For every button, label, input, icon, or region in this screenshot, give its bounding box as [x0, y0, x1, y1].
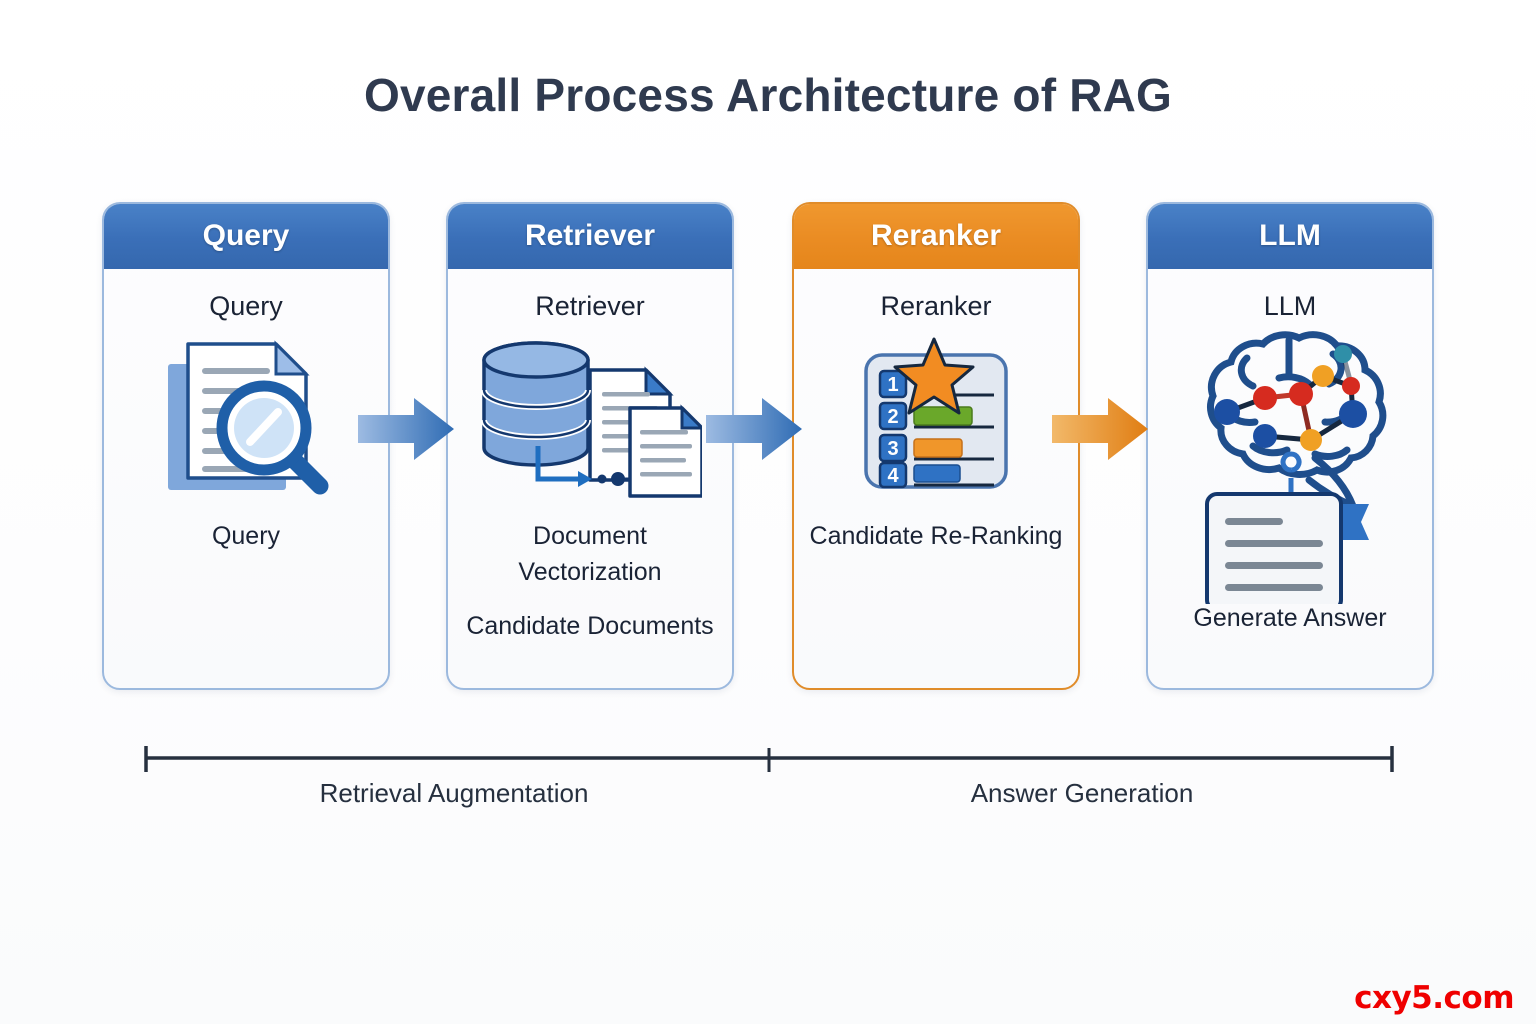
arrow-reranker-to-llm — [1052, 398, 1148, 460]
phase-bracket — [144, 744, 1394, 774]
stage-card-query[interactable]: Query Query Query — [102, 202, 390, 690]
node-red-3 — [1342, 377, 1360, 395]
rank-number-4: 4 — [887, 465, 899, 487]
rank-bar-4 — [914, 465, 960, 482]
node-teal-1 — [1334, 345, 1352, 363]
phase-label-answer-generation: Answer Generation — [772, 778, 1392, 809]
stage-subtitle-reranker: Reranker — [794, 291, 1078, 322]
database-documents-icon — [448, 328, 732, 508]
rank-bar-3 — [914, 439, 962, 457]
stage-header-query: Query — [103, 203, 389, 269]
rank-number-2: 2 — [887, 406, 898, 428]
stage-caption-retriever-0: Document Vectorization — [448, 518, 732, 590]
rank-number-3: 3 — [887, 438, 898, 460]
diagram-canvas: Overall Process Architecture of RAG Quer… — [0, 0, 1536, 1024]
node-orange-1 — [1312, 365, 1334, 387]
page-title: Overall Process Architecture of RAG — [0, 68, 1536, 122]
node-blue-2 — [1339, 400, 1367, 428]
stage-header-llm: LLM — [1147, 203, 1433, 269]
stage-header-retriever: Retriever — [447, 203, 733, 269]
stage-caption-query-0: Query — [104, 518, 388, 554]
arrow-retriever-to-reranker — [706, 398, 802, 460]
stage-subtitle-query: Query — [104, 291, 388, 322]
stage-caption-retriever-1: Candidate Documents — [448, 608, 732, 644]
stage-caption-reranker-0: Candidate Re-Ranking — [794, 518, 1078, 554]
stage-card-retriever[interactable]: Retriever Retriever — [446, 202, 734, 690]
watermark: cxy5.com — [1354, 980, 1514, 1016]
node-blue-1 — [1214, 399, 1240, 425]
node-red-2 — [1289, 382, 1313, 406]
stage-card-llm[interactable]: LLM LLM — [1146, 202, 1434, 690]
stage-card-reranker[interactable]: Reranker Reranker 1 2 3 — [792, 202, 1080, 690]
node-red-1 — [1253, 386, 1277, 410]
arrow-query-to-retriever — [358, 398, 454, 460]
document-magnifier-icon — [104, 328, 388, 508]
rank-number-1: 1 — [887, 374, 898, 396]
node-orange-2 — [1300, 429, 1322, 451]
brain-network-icon — [1148, 318, 1432, 604]
stage-header-reranker: Reranker — [793, 203, 1079, 269]
ranked-list-star-icon: 1 2 3 4 — [794, 328, 1078, 508]
stage-subtitle-retriever: Retriever — [448, 291, 732, 322]
stage-caption-llm-0: Generate Answer — [1148, 600, 1432, 636]
phase-label-retrieval-augmentation: Retrieval Augmentation — [144, 778, 764, 809]
node-blue-3 — [1253, 424, 1277, 448]
rank-bar-2 — [914, 407, 972, 425]
